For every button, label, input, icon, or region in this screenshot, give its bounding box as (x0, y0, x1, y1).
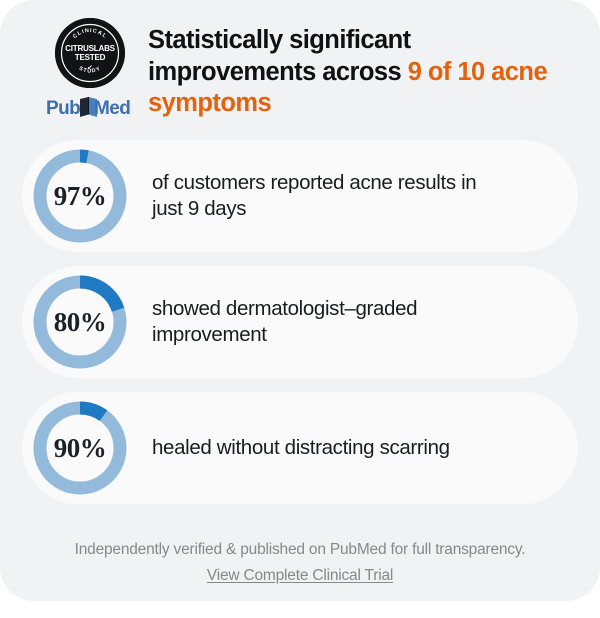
header: CLINICAL STUDY CITRUSLABS TESTED ✔ Pub (0, 0, 600, 136)
stat-description: healed without distracting scarring (152, 435, 450, 461)
stat-card-list: 97% of customers reported acne results i… (0, 140, 600, 518)
svg-text:Med: Med (94, 98, 130, 119)
promo-card-root: CLINICAL STUDY CITRUSLABS TESTED ✔ Pub (0, 0, 600, 601)
svg-text:CITRUSLABS: CITRUSLABS (65, 44, 116, 53)
view-clinical-trial-link[interactable]: View Complete Clinical Trial (207, 567, 393, 585)
headline-part-plain: Statistically significant improvements a… (148, 26, 411, 86)
pubmed-logo-icon: Pub Med (44, 91, 136, 121)
stat-percent-label: 97% (30, 146, 130, 246)
stat-percent-label: 90% (30, 398, 130, 498)
svg-text:✔: ✔ (87, 64, 92, 72)
progress-donut-icon: 80% (30, 272, 130, 372)
stat-card: 97% of customers reported acne results i… (22, 140, 578, 252)
footer: Independently verified & published on Pu… (0, 540, 600, 585)
stat-card: 90% healed without distracting scarring (22, 392, 578, 504)
citruslabs-tested-seal-icon: CLINICAL STUDY CITRUSLABS TESTED ✔ (55, 18, 125, 88)
page-title: Statistically significant improvements a… (148, 25, 578, 120)
stat-percent-label: 80% (30, 272, 130, 372)
credential-badges: CLINICAL STUDY CITRUSLABS TESTED ✔ Pub (42, 18, 138, 121)
progress-donut-icon: 90% (30, 398, 130, 498)
progress-donut-icon: 97% (30, 146, 130, 246)
stat-description: showed dermatologist–graded improvement (152, 296, 492, 348)
stat-description: of customers reported acne results in ju… (152, 170, 492, 222)
stat-card: 80% showed dermatologist–graded improvem… (22, 266, 578, 378)
svg-text:TESTED: TESTED (75, 53, 106, 62)
footer-note: Independently verified & published on Pu… (0, 540, 600, 561)
svg-text:Pub: Pub (46, 98, 80, 119)
